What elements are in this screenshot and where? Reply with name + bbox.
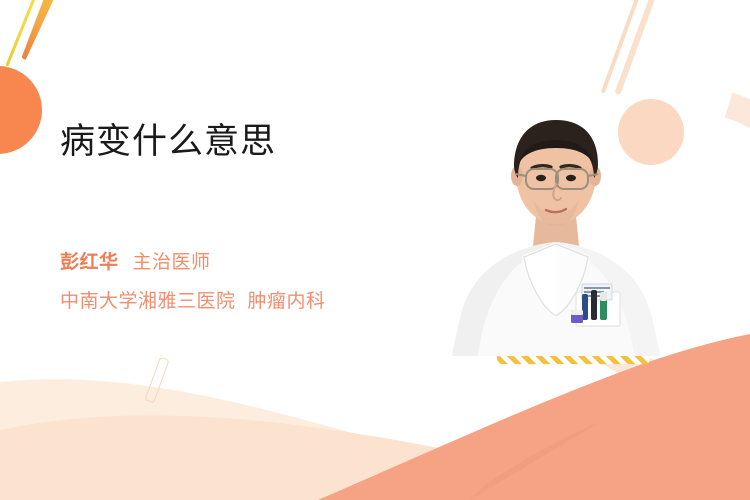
doctor-portrait [452, 96, 660, 356]
doctor-department: 肿瘤内科 [248, 291, 326, 312]
doctor-affiliation-line: 中南大学湘雅三医院肿瘤内科 [60, 288, 326, 316]
doctor-name: 彭红华 [60, 252, 119, 273]
doctor-hospital: 中南大学湘雅三医院 [60, 291, 236, 312]
peach-diagonal-stripe-decoration-a [601, 0, 645, 94]
doctor-rank: 主治医师 [133, 252, 211, 273]
orange-diagonal-stripe-decoration [19, 0, 62, 62]
orange-circle-decoration [0, 66, 42, 154]
outlined-diagonal-stripe-decoration [144, 357, 169, 404]
yellow-diagonal-stripe-decoration [5, 0, 38, 67]
doctor-identity-line: 彭红华主治医师 [60, 249, 211, 277]
title-block: 病变什么意思 [60, 118, 460, 166]
peach-diagonal-stripe-decoration-b [614, 0, 663, 95]
page-title: 病变什么意思 [60, 118, 460, 166]
medical-qa-title-card: 病变什么意思 彭红华主治医师 中南大学湘雅三医院肿瘤内科 [0, 0, 750, 500]
